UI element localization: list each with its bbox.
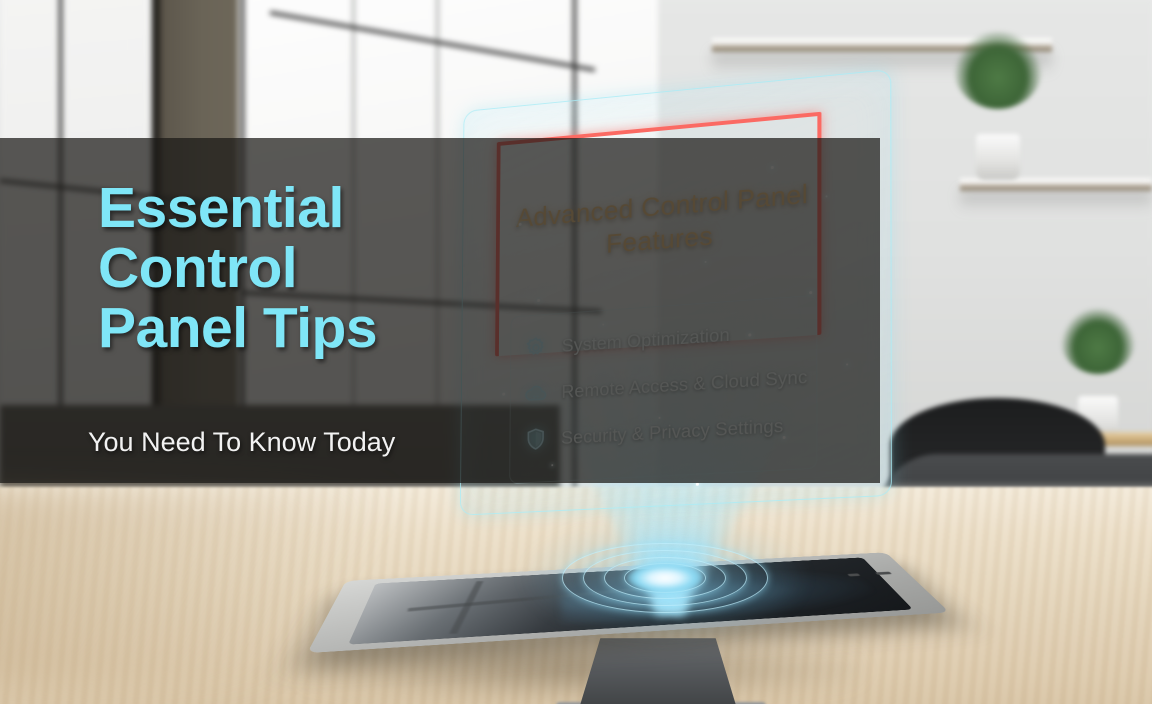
- shelf-plant: [952, 62, 1044, 180]
- headline-line-2: Control: [98, 238, 518, 298]
- table-plant-leaves: [1061, 308, 1135, 374]
- tablet-stand: [578, 638, 738, 704]
- headline-line-3: Panel Tips: [98, 298, 518, 358]
- emitter-core: [627, 563, 703, 593]
- tablet-port-1: [875, 571, 892, 574]
- shelf-plant-pot: [976, 134, 1020, 180]
- page-title: Essential Control Panel Tips: [98, 178, 518, 358]
- shelf-plant-leaves: [954, 31, 1042, 109]
- wall-shelf-lower-shadow: [960, 191, 1152, 211]
- hologram-particle: [696, 483, 698, 486]
- page-subtitle: You Need To Know Today: [88, 425, 568, 459]
- holographic-emitter: [560, 540, 770, 616]
- promotional-graphic: Advanced Control Panel Features System O…: [0, 0, 1152, 704]
- headline-line-1: Essential: [98, 178, 518, 238]
